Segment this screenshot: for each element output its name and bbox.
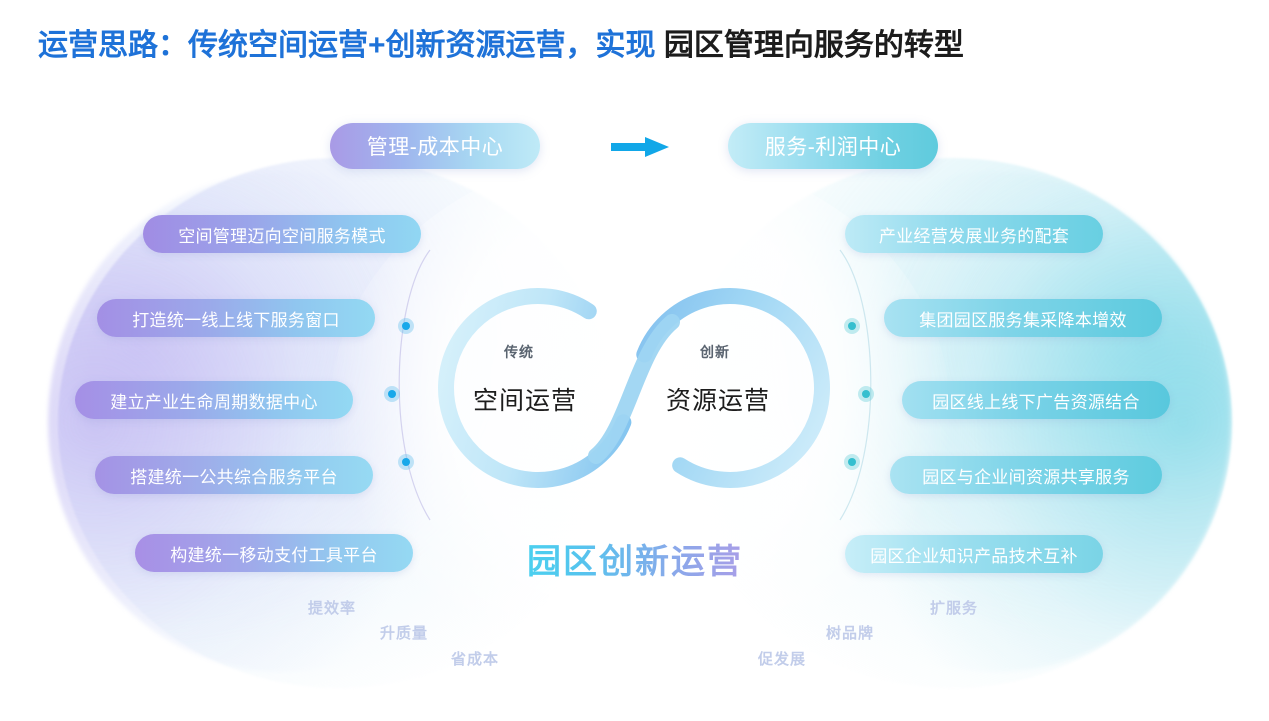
- connector-dot-left-1: [398, 318, 414, 334]
- left-pill-2[interactable]: 打造统一线上线下服务窗口: [97, 299, 375, 337]
- page-title: 运营思路：传统空间运营+创新资源运营，实现 园区管理向服务的转型: [38, 20, 964, 64]
- bottom-label-left-1: 提效率: [308, 597, 356, 618]
- left-pill-1[interactable]: 空间管理迈向空间服务模式: [143, 215, 421, 253]
- left-pill-5[interactable]: 构建统一移动支付工具平台: [135, 534, 413, 572]
- ring-label-innovation-small: 创新: [700, 342, 730, 362]
- connector-dot-right-3: [844, 454, 860, 470]
- bottom-label-right-2: 树品牌: [826, 622, 874, 643]
- ring-label-traditional-small: 传统: [504, 342, 534, 362]
- connector-dot-left-3: [398, 454, 414, 470]
- page-title-blue: 运营思路：传统空间运营+创新资源运营，实现: [38, 29, 656, 62]
- page-title-dark: 园区管理向服务的转型: [664, 29, 964, 62]
- right-pill-5[interactable]: 园区企业知识产品技术互补: [845, 535, 1103, 573]
- arrow-right-icon: [609, 135, 671, 159]
- center-headline: 园区创新运营: [500, 534, 770, 583]
- left-pill-3[interactable]: 建立产业生命周期数据中心: [75, 381, 353, 419]
- infinity-diagram: [0, 0, 1269, 721]
- bottom-label-right-3: 促发展: [758, 648, 806, 669]
- bottom-label-left-2: 升质量: [380, 622, 428, 643]
- left-pill-4[interactable]: 搭建统一公共综合服务平台: [95, 456, 373, 494]
- connector-dot-right-1: [844, 318, 860, 334]
- top-pill-service-profit-center[interactable]: 服务-利润中心: [728, 123, 938, 169]
- right-pill-2[interactable]: 集团园区服务集采降本增效: [884, 299, 1162, 337]
- connector-dot-left-2: [384, 386, 400, 402]
- ring-label-traditional-large: 空间运营: [473, 381, 577, 417]
- bottom-label-left-3: 省成本: [451, 648, 499, 669]
- connector-arcs: [0, 0, 1269, 721]
- ring-label-innovation-large: 资源运营: [666, 381, 770, 417]
- bottom-label-right-1: 扩服务: [930, 597, 978, 618]
- right-pill-3[interactable]: 园区线上线下广告资源结合: [902, 381, 1170, 419]
- top-pill-management-cost-center[interactable]: 管理-成本中心: [330, 123, 540, 169]
- right-pill-4[interactable]: 园区与企业间资源共享服务: [890, 456, 1162, 494]
- connector-dot-right-2: [858, 386, 874, 402]
- right-pill-1[interactable]: 产业经营发展业务的配套: [845, 215, 1103, 253]
